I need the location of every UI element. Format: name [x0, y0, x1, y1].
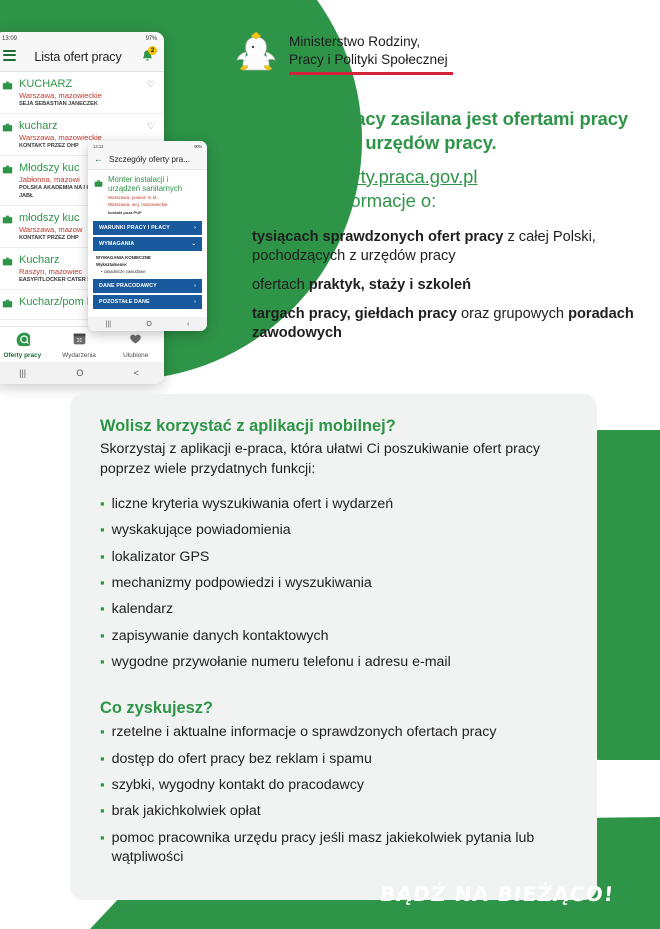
notification-badge: 2: [148, 46, 157, 55]
sys-nav-home-detail[interactable]: O: [146, 321, 151, 328]
offer-section-header[interactable]: DANE PRACODAWCY›: [93, 279, 202, 293]
hamburger-icon[interactable]: [3, 50, 16, 64]
calendar-icon: 31: [72, 333, 87, 350]
bottom-nav-item[interactable]: Oferty pracy: [0, 331, 51, 359]
card-benefits: Co zyskujesz? ▪rzetelne i aktualne infor…: [70, 676, 597, 900]
bullet-dot-icon: ▪: [240, 276, 245, 296]
sys-nav-home[interactable]: O: [76, 368, 83, 378]
card-app-title: Wolisz korzystać z aplikacji mobilnej?: [100, 416, 571, 437]
offer-section-label: WYMAGANIA: [99, 241, 134, 247]
card-benefits-item: ▪rzetelne i aktualne informacje o sprawd…: [100, 723, 571, 742]
notification-bell-icon[interactable]: 2: [140, 49, 155, 64]
chevron-icon: ›: [194, 283, 196, 289]
status-battery-detail: 90%: [194, 144, 202, 149]
card-app-item: ▪wyskakujące powiadomienia: [100, 521, 571, 540]
bullet-dot-icon: ▪: [100, 776, 105, 795]
system-nav-bar: ||| O <: [0, 362, 164, 384]
card-benefits-item-text: szybki, wygodny kontakt do pracodawcy: [112, 776, 364, 795]
card-benefits-item-text: pomoc pracownika urzędu pracy jeśli masz…: [112, 829, 571, 868]
flag-rule: [289, 72, 453, 75]
bottom-navigation: Oferty pracy31WydarzeniaUlubione: [0, 326, 164, 362]
sys-nav-back-detail[interactable]: ‹: [187, 321, 189, 328]
footer-slogan: BĄDŹ NA BIEŻĄCO!: [378, 882, 615, 906]
bullet-dot-icon: ▪: [100, 829, 105, 868]
card-benefits-item-text: dostęp do ofert pracy bez reklam i spamu: [112, 750, 372, 769]
bottom-nav-item[interactable]: 31Wydarzenia: [51, 331, 108, 359]
bullet-dot-icon: ▪: [100, 521, 105, 540]
card-app-item-text: kalendarz: [112, 600, 174, 619]
card-app-feature-list: ▪liczne kryteria wyszukiwania ofert i wy…: [100, 495, 571, 672]
requirements-heading: WYMAGANIA KONIECZNE: [96, 255, 199, 260]
card-benefits-item: ▪dostęp do ofert pracy bez reklam i spam…: [100, 750, 571, 769]
bullet-dot-icon: ▪: [100, 548, 105, 567]
chevron-icon: ⌄: [191, 241, 196, 247]
card-app-item: ▪mechanizmy podpowiedzi i wyszukiwania: [100, 574, 571, 593]
arrow-left-icon[interactable]: ←: [94, 154, 103, 164]
offer-title: Monter instalacji i urządzeń sanitarnych: [108, 175, 201, 194]
polish-eagle-emblem-icon: [234, 30, 278, 80]
ministry-name-line2: Pracy i Polityki Społecznej: [289, 51, 453, 69]
offer-section-label: DANE PRACODAWCY: [99, 283, 157, 289]
bullet-dot-icon: ▪: [100, 600, 105, 619]
app-bar-title: Lista ofert pracy: [26, 50, 130, 64]
card-benefits-item: ▪szybki, wygodny kontakt do pracodawcy: [100, 776, 571, 795]
briefcase-icon: [2, 212, 13, 242]
bottom-nav-label: Oferty pracy: [0, 352, 51, 359]
hero-subheading: Na stronie oferty.praca.gov.pl znajdzies…: [240, 165, 638, 214]
job-location: Warszawa, mazowieckie: [19, 91, 141, 101]
hero-bullet-text: ofertach praktyk, staży i szkoleń: [252, 276, 471, 296]
hero-bullet-text: tysiącach sprawdzonych ofert pracy z cał…: [252, 228, 638, 267]
app-bar: Lista ofert pracy 2: [0, 44, 164, 72]
card-app-item-text: liczne kryteria wyszukiwania ofert i wyd…: [112, 495, 394, 514]
favorite-heart-icon[interactable]: ♡: [147, 78, 155, 108]
card-benefits-list: ▪rzetelne i aktualne informacje o sprawd…: [100, 723, 571, 867]
card-benefits-item-text: rzetelne i aktualne informacje o sprawdz…: [112, 723, 497, 742]
bullet-dot-icon: ▪: [240, 228, 245, 267]
hero-subheading-prefix: Na stronie: [240, 166, 329, 187]
requirements-subheading: Wykształcenie:: [96, 262, 199, 267]
card-app-item-text: wyskakujące powiadomienia: [112, 521, 291, 540]
job-employer: SEJA SEBASTIAN JANECZEK: [19, 101, 141, 108]
briefcase-icon: [2, 296, 13, 314]
card-app-item-text: mechanizmy podpowiedzi i wyszukiwania: [112, 574, 372, 593]
card-app-item: ▪zapisywanie danych kontaktowych: [100, 627, 571, 646]
job-title: KUCHARZ: [19, 78, 141, 91]
bottom-nav-label: Ulubione: [107, 352, 164, 359]
hero-bullet: ▪tysiącach sprawdzonych ofert pracy z ca…: [240, 228, 638, 267]
bullet-dot-icon: ▪: [100, 750, 105, 769]
phone-mockup-offer-detail: 13:12 90% ← Szczegóły oferty pra... Mont…: [88, 141, 207, 331]
status-bar: 13:09 97%: [0, 32, 164, 44]
requirements-item: • zasadnicze zawodowe: [96, 269, 199, 274]
detail-title: Szczegóły oferty pra...: [109, 155, 190, 164]
chevron-icon: ›: [194, 299, 196, 305]
system-nav-bar-detail: ||| O ‹: [88, 317, 207, 331]
offer-section-body: WYMAGANIA KONIECZNEWykształcenie:• zasad…: [88, 253, 207, 277]
bullet-dot-icon: ▪: [100, 574, 105, 593]
card-benefits-item: ▪pomoc pracownika urzędu pracy jeśli mas…: [100, 829, 571, 868]
briefcase-icon: [2, 254, 13, 284]
offer-section-label: POZOSTAŁE DANE: [99, 299, 150, 305]
card-app-item: ▪liczne kryteria wyszukiwania ofert i wy…: [100, 495, 571, 514]
briefcase-icon: [2, 120, 13, 150]
card-benefits-title: Co zyskujesz?: [100, 698, 571, 719]
offer-location-line2: Warszawa, woj. mazowieckie: [108, 202, 201, 208]
card-app-item-text: zapisywanie danych kontaktowych: [112, 627, 329, 646]
card-app-item-text: wygodne przywołanie numeru telefonu i ad…: [112, 653, 451, 672]
card-app-intro: Skorzystaj z aplikacji e-praca, która uł…: [100, 440, 571, 479]
bullet-dot-icon: ▪: [100, 495, 105, 514]
card-app-item: ▪kalendarz: [100, 600, 571, 619]
card-app-item: ▪wygodne przywołanie numeru telefonu i a…: [100, 653, 571, 672]
card-benefits-item: ▪brak jakichkolwiek opłat: [100, 802, 571, 821]
detail-app-bar: ← Szczegóły oferty pra...: [88, 150, 207, 170]
bullet-dot-icon: ▪: [100, 802, 105, 821]
status-time-detail: 13:12: [93, 144, 103, 149]
status-time: 13:09: [2, 36, 17, 42]
offer-header: Monter instalacji i urządzeń sanitarnych…: [88, 170, 207, 219]
bullet-dot-icon: ▪: [100, 627, 105, 646]
hero-bullet: ▪ofertach praktyk, staży i szkoleń: [240, 276, 638, 296]
portal-link[interactable]: oferty.praca.gov.pl: [329, 166, 478, 187]
card-mobile-app: Wolisz korzystać z aplikacji mobilnej? S…: [70, 394, 597, 705]
bottom-nav-item[interactable]: Ulubione: [107, 331, 164, 359]
sys-nav-recents-detail[interactable]: |||: [106, 321, 111, 328]
hero-heading: Baza Ofert Pracy zasilana jest ofertami …: [240, 107, 638, 156]
heart-icon: [128, 333, 143, 350]
offer-section-header[interactable]: WYMAGANIA⌄: [93, 237, 202, 251]
hero-bullet-list: ▪tysiącach sprawdzonych ofert pracy z ca…: [240, 228, 638, 344]
hero-bullet: ▪targach pracy, giełdach pracy oraz grup…: [240, 305, 638, 344]
bullet-dot-icon: ▪: [240, 305, 245, 344]
card-app-item: ▪lokalizator GPS: [100, 548, 571, 567]
offer-section-header[interactable]: POZOSTAŁE DANE›: [93, 295, 202, 309]
job-list-item[interactable]: KUCHARZWarszawa, mazowieckieSEJA SEBASTI…: [0, 72, 164, 114]
ministry-name-line1: Ministerstwo Rodziny,: [289, 33, 453, 51]
svg-text:31: 31: [76, 338, 82, 344]
status-battery: 97%: [146, 36, 157, 42]
offer-section-header[interactable]: WARUNKI PRACY I PŁACY›: [93, 221, 202, 235]
offer-sections: WARUNKI PRACY I PŁACY›WYMAGANIA⌄WYMAGANI…: [88, 221, 207, 309]
offer-section-label: WARUNKI PRACY I PŁACY: [99, 225, 170, 231]
job-title: kucharz: [19, 120, 141, 133]
bullet-dot-icon: ▪: [100, 723, 105, 742]
hero-subheading-suffix: znajdziesz informacje o:: [240, 190, 436, 211]
offer-location-line1: Warszawa, powiat: m.st.: [108, 195, 201, 201]
card-app-item-text: lokalizator GPS: [112, 548, 210, 567]
offer-contact-note: kontakt poza PUP: [108, 210, 201, 215]
hero-bullet-text: targach pracy, giełdach pracy oraz grupo…: [252, 305, 638, 344]
status-bar-detail: 13:12 90%: [88, 141, 207, 150]
sys-nav-back[interactable]: <: [134, 368, 139, 378]
ministry-logo: Ministerstwo Rodziny, Pracy i Polityki S…: [234, 30, 453, 80]
card-benefits-item-text: brak jakichkolwiek opłat: [112, 802, 261, 821]
chevron-icon: ›: [194, 225, 196, 231]
search-icon: [15, 333, 30, 350]
briefcase-icon: [94, 175, 103, 215]
sys-nav-recents[interactable]: |||: [19, 368, 26, 378]
briefcase-icon: [2, 162, 13, 200]
bottom-nav-label: Wydarzenia: [51, 352, 108, 359]
hero-section: Baza Ofert Pracy zasilana jest ofertami …: [240, 107, 638, 353]
bullet-dot-icon: ▪: [100, 653, 105, 672]
briefcase-icon: [2, 78, 13, 108]
